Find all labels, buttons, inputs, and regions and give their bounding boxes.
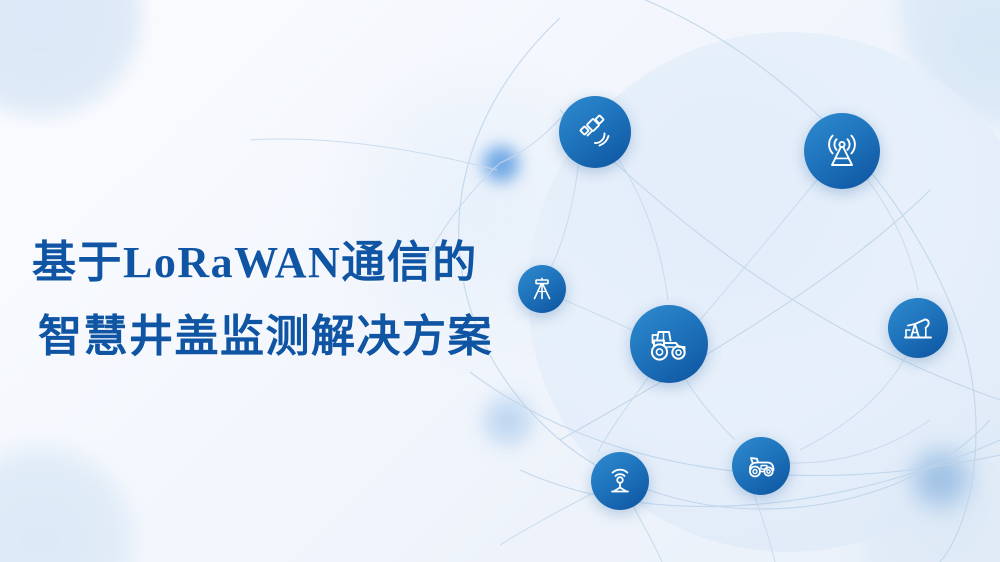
glow-dot-upper bbox=[478, 141, 524, 187]
glow-dot-right bbox=[905, 443, 977, 515]
cover-slide: 基于LoRaWAN通信的 智慧井盖监测解决方案 bbox=[0, 0, 1000, 562]
node-oil-pumpjack[interactable] bbox=[888, 298, 948, 358]
slide-title: 基于LoRaWAN通信的 智慧井盖监测解决方案 bbox=[32, 226, 592, 374]
sensor-beacon-icon bbox=[604, 465, 636, 497]
background-blob-bottom-right bbox=[860, 420, 1000, 562]
node-satellite[interactable] bbox=[559, 96, 631, 168]
oil-pumpjack-icon bbox=[901, 311, 935, 345]
title-line-1: 基于LoRaWAN通信的 bbox=[32, 226, 592, 300]
radio-tower-icon bbox=[821, 130, 863, 172]
background-blob-bottom-left bbox=[0, 440, 140, 562]
background-blob-top-right bbox=[900, 0, 1000, 130]
tractor-icon bbox=[646, 321, 692, 367]
glow-dot-lower bbox=[477, 390, 539, 452]
background-blob-top-left bbox=[0, 0, 150, 125]
node-sensor-beacon[interactable] bbox=[591, 452, 649, 510]
node-radio-tower[interactable] bbox=[804, 113, 880, 189]
title-line-2: 智慧井盖监测解决方案 bbox=[32, 300, 592, 374]
satellite-signal-icon bbox=[575, 112, 615, 152]
harvester-vehicle-icon bbox=[744, 449, 778, 483]
node-harvester[interactable] bbox=[732, 437, 790, 495]
node-tractor[interactable] bbox=[630, 305, 708, 383]
